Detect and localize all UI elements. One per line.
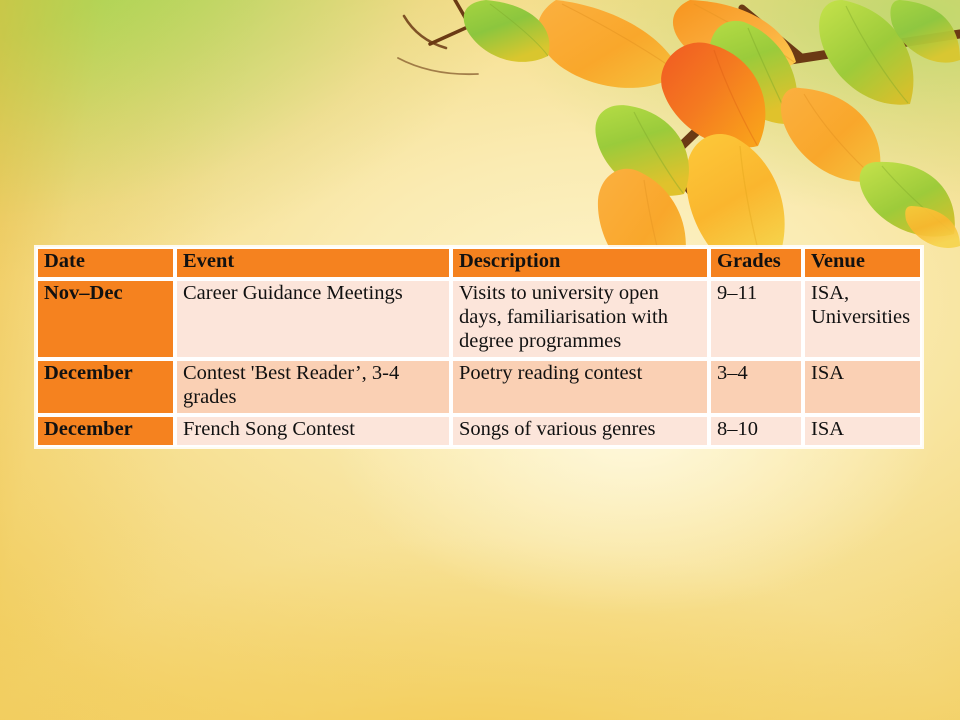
cell-date: December bbox=[36, 415, 175, 447]
schedule-table: Date Event Description Grades Venue Nov–… bbox=[36, 247, 922, 447]
cell-description: Visits to university open days, familiar… bbox=[451, 279, 709, 359]
cell-venue: ISA, Universities bbox=[803, 279, 922, 359]
cell-event: Contest 'Best Reader’, 3-4 grades bbox=[175, 359, 451, 415]
cell-description: Poetry reading contest bbox=[451, 359, 709, 415]
cell-event: French Song Contest bbox=[175, 415, 451, 447]
cell-date: December bbox=[36, 359, 175, 415]
table-header-row: Date Event Description Grades Venue bbox=[36, 247, 922, 279]
table-row: December French Song Contest Songs of va… bbox=[36, 415, 922, 447]
cell-venue: ISA bbox=[803, 359, 922, 415]
column-header-date: Date bbox=[36, 247, 175, 279]
cell-venue: ISA bbox=[803, 415, 922, 447]
cell-grades: 9–11 bbox=[709, 279, 803, 359]
cell-grades: 3–4 bbox=[709, 359, 803, 415]
table-row: December Contest 'Best Reader’, 3-4 grad… bbox=[36, 359, 922, 415]
cell-event: Career Guidance Meetings bbox=[175, 279, 451, 359]
cell-grades: 8–10 bbox=[709, 415, 803, 447]
column-header-event: Event bbox=[175, 247, 451, 279]
column-header-venue: Venue bbox=[803, 247, 922, 279]
slide-canvas: Date Event Description Grades Venue Nov–… bbox=[0, 0, 960, 720]
column-header-grades: Grades bbox=[709, 247, 803, 279]
cell-description: Songs of various genres bbox=[451, 415, 709, 447]
cell-date: Nov–Dec bbox=[36, 279, 175, 359]
column-header-description: Description bbox=[451, 247, 709, 279]
table-row: Nov–Dec Career Guidance Meetings Visits … bbox=[36, 279, 922, 359]
